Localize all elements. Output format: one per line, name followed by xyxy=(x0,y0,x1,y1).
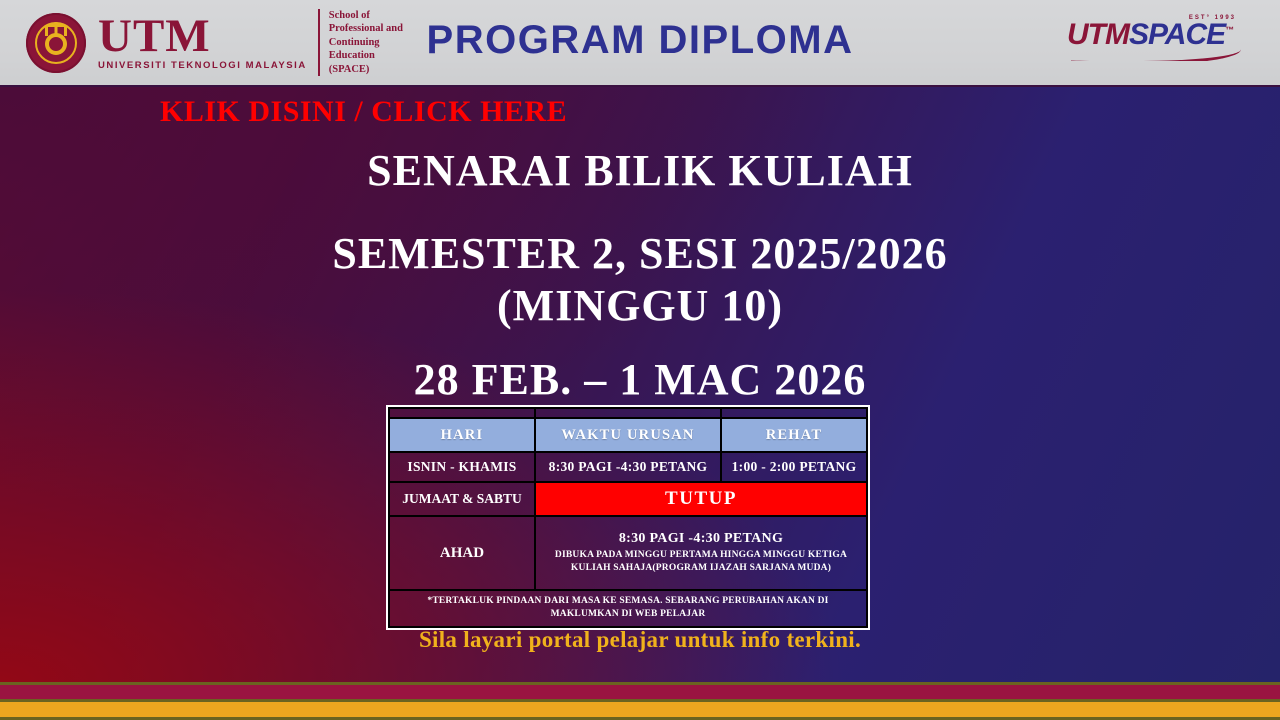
utmspace-utm-text: UTM xyxy=(1067,18,1129,51)
table-footnote: *TERTAKLUK PINDAAN DARI MASA KE SEMASA. … xyxy=(389,590,867,627)
top-header-bar: UTM UNIVERSITI TEKNOLOGI MALAYSIA School… xyxy=(0,0,1280,85)
table-header-row: HARI WAKTU URUSAN REHAT xyxy=(389,418,867,452)
slide-canvas: UTM UNIVERSITI TEKNOLOGI MALAYSIA School… xyxy=(0,0,1280,720)
table-top-spacer xyxy=(389,408,867,418)
heading-line-3: (MINGGU 10) xyxy=(0,280,1280,332)
table-row: AHAD 8:30 PAGI -4:30 PETANG DIBUKA PADA … xyxy=(389,516,867,590)
row-hours: 8:30 PAGI -4:30 PETANG xyxy=(538,531,864,547)
column-header-hari: HARI xyxy=(389,418,535,452)
bottom-bar-gold xyxy=(0,702,1280,717)
utmspace-space-text: SPACE xyxy=(1129,18,1225,51)
heading-line-4: 28 FEB. – 1 MAC 2026 xyxy=(0,354,1280,405)
row-hours-cell: 8:30 PAGI -4:30 PETANG DIBUKA PADA MINGG… xyxy=(535,516,867,590)
table-footnote-row: *TERTAKLUK PINDAAN DARI MASA KE SEMASA. … xyxy=(389,590,867,627)
status-badge-closed: TUTUP xyxy=(535,482,867,516)
portal-reminder-text: Sila layari portal pelajar untuk info te… xyxy=(0,627,1280,653)
row-day-label: AHAD xyxy=(389,516,535,590)
school-line-5: (SPACE) xyxy=(329,63,403,76)
click-here-link[interactable]: KLIK DISINI / CLICK HERE xyxy=(160,95,567,129)
announcement-heading: SENARAI BILIK KULIAH SEMESTER 2, SESI 20… xyxy=(0,145,1280,405)
utmspace-logo: UTMSPACE™ EST° 1993 xyxy=(1067,18,1252,68)
operating-hours-table: HARI WAKTU URUSAN REHAT ISNIN - KHAMIS 8… xyxy=(386,405,870,630)
trademark-icon: ™ xyxy=(1225,25,1233,35)
heading-line-1: SENARAI BILIK KULIAH xyxy=(0,145,1280,196)
row-hours-note: DIBUKA PADA MINGGU PERTAMA HINGGA MINGGU… xyxy=(538,549,864,575)
utmspace-wordmark: UTMSPACE™ EST° 1993 xyxy=(1067,18,1252,48)
column-header-waktu-urusan: WAKTU URUSAN xyxy=(535,418,721,452)
header-divider xyxy=(0,85,1280,87)
row-day-label: JUMAAT & SABTU xyxy=(389,482,535,516)
heading-line-2: SEMESTER 2, SESI 2025/2026 xyxy=(0,228,1280,280)
utmspace-swoosh-icon xyxy=(1071,48,1241,61)
row-day-label: ISNIN - KHAMIS xyxy=(389,452,535,482)
row-break: 1:00 - 2:00 PETANG xyxy=(721,452,867,482)
row-hours: 8:30 PAGI -4:30 PETANG xyxy=(535,452,721,482)
table-row: ISNIN - KHAMIS 8:30 PAGI -4:30 PETANG 1:… xyxy=(389,452,867,482)
utmspace-established-text: EST° 1993 xyxy=(1189,15,1236,21)
bottom-bar-maroon xyxy=(0,685,1280,699)
slide-content: KLIK DISINI / CLICK HERE SENARAI BILIK K… xyxy=(0,87,1280,682)
column-header-rehat: REHAT xyxy=(721,418,867,452)
table-row: JUMAAT & SABTU TUTUP xyxy=(389,482,867,516)
